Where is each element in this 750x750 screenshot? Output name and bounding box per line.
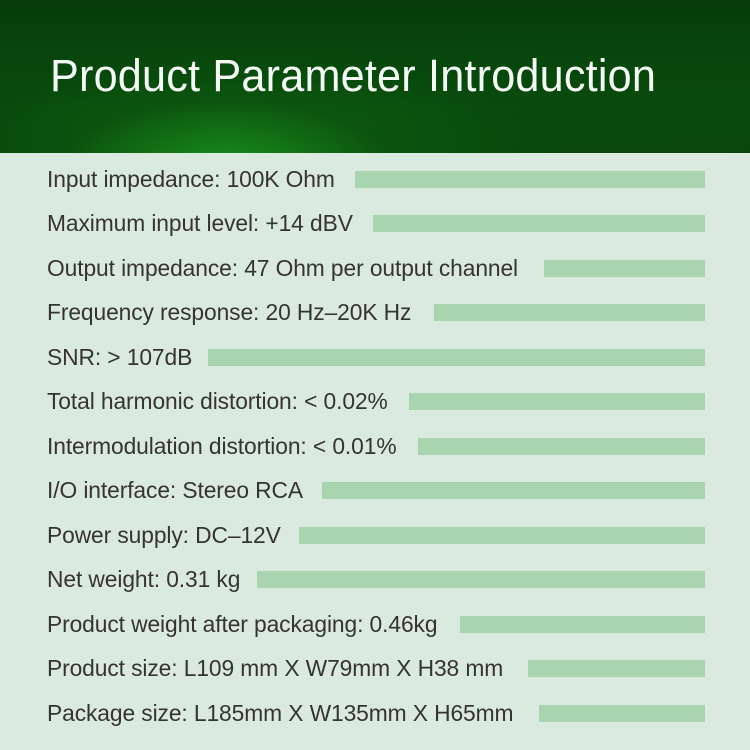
spec-accent-bar — [539, 705, 705, 722]
spec-label: Intermodulation distortion: < 0.01% — [47, 433, 397, 460]
spec-accent-bar — [544, 260, 705, 277]
spec-label: Frequency response: 20 Hz–20K Hz — [47, 299, 411, 326]
product-parameter-page: Product Parameter Introduction Input imp… — [0, 0, 750, 750]
spec-label: Net weight: 0.31 kg — [47, 566, 240, 593]
spec-label: SNR: > 107dB — [47, 344, 192, 371]
spec-row: I/O interface: Stereo RCA — [0, 469, 750, 514]
spec-accent-bar — [528, 660, 705, 677]
spec-accent-bar — [208, 349, 705, 366]
spec-row: Input impedance: 100K Ohm — [0, 157, 750, 202]
spec-row: Intermodulation distortion: < 0.01% — [0, 424, 750, 469]
spec-label: Total harmonic distortion: < 0.02% — [47, 388, 388, 415]
spec-row: Total harmonic distortion: < 0.02% — [0, 380, 750, 425]
spec-accent-bar — [373, 215, 705, 232]
spec-row: SNR: > 107dB — [0, 335, 750, 380]
spec-label: Input impedance: 100K Ohm — [47, 166, 335, 193]
spec-row: Frequency response: 20 Hz–20K Hz — [0, 291, 750, 336]
spec-label: Power supply: DC–12V — [47, 522, 281, 549]
page-header-banner: Product Parameter Introduction — [0, 0, 750, 153]
page-title: Product Parameter Introduction — [50, 47, 686, 105]
spec-label: Output impedance: 47 Ohm per output chan… — [47, 255, 518, 282]
spec-label: Maximum input level: +14 dBV — [47, 210, 353, 237]
spec-row: Package size: L185mm X W135mm X H65mm — [0, 691, 750, 736]
spec-row: Product weight after packaging: 0.46kg — [0, 602, 750, 647]
spec-accent-bar — [257, 571, 705, 588]
spec-row: Net weight: 0.31 kg — [0, 558, 750, 603]
spec-row: Maximum input level: +14 dBV — [0, 202, 750, 247]
spec-label: Product weight after packaging: 0.46kg — [47, 611, 437, 638]
spec-accent-bar — [355, 171, 705, 188]
spec-label: Product size: L109 mm X W79mm X H38 mm — [47, 655, 503, 682]
specification-list: Input impedance: 100K Ohm Maximum input … — [0, 153, 750, 750]
spec-label: Package size: L185mm X W135mm X H65mm — [47, 700, 513, 727]
spec-row: Power supply: DC–12V — [0, 513, 750, 558]
spec-accent-bar — [434, 304, 705, 321]
spec-accent-bar — [409, 393, 705, 410]
spec-accent-bar — [299, 527, 705, 544]
spec-accent-bar — [460, 616, 705, 633]
spec-row: Product size: L109 mm X W79mm X H38 mm — [0, 647, 750, 692]
spec-label: I/O interface: Stereo RCA — [47, 477, 303, 504]
spec-row: Output impedance: 47 Ohm per output chan… — [0, 246, 750, 291]
spec-accent-bar — [322, 482, 705, 499]
spec-accent-bar — [418, 438, 705, 455]
